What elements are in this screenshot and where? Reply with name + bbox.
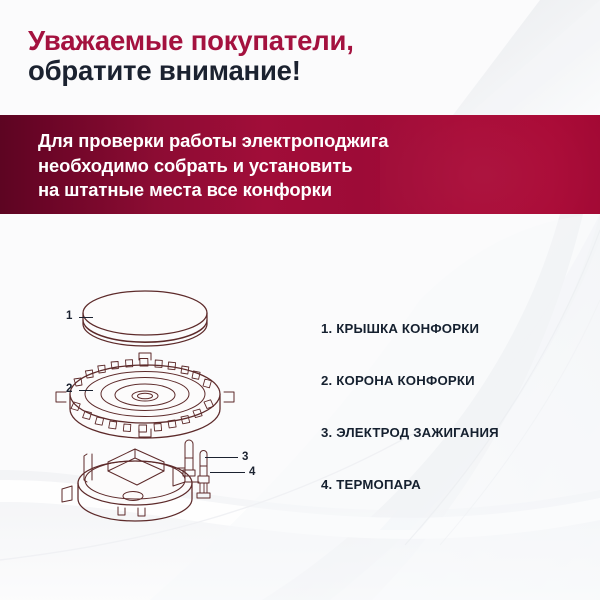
- parts-legend: 1. КРЫШКА КОНФОРКИ 2. КОРОНА КОНФОРКИ 3.…: [321, 320, 581, 528]
- callout-number-4: 4: [249, 466, 255, 478]
- legend-item-2: 2. КОРОНА КОНФОРКИ: [321, 372, 581, 424]
- callout-leader-3: [205, 457, 238, 458]
- legend-item-4: 4. ТЕРМОПАРА: [321, 476, 581, 528]
- notice-line-3: на штатные места все конфорки: [38, 178, 388, 203]
- notice-line-1: Для проверки работы электроподжига: [38, 129, 388, 154]
- callout-number-3: 3: [242, 451, 248, 463]
- header: Уважаемые покупатели, обратите внимание!: [0, 0, 600, 115]
- notice-banner-text: Для проверки работы электроподжига необх…: [38, 129, 388, 203]
- burner-exploded-diagram: [40, 268, 310, 538]
- notice-banner: Для проверки работы электроподжига необх…: [0, 115, 600, 214]
- page-title-line1: Уважаемые покупатели,: [28, 26, 354, 56]
- callout-leader-4: [210, 472, 245, 473]
- callout-number-2: 2: [66, 383, 72, 395]
- callout-number-1: 1: [66, 310, 72, 322]
- burner-cap-shape: [83, 291, 207, 346]
- notice-line-2: необходимо собрать и установить: [38, 154, 388, 179]
- burner-base-shape: [62, 440, 210, 521]
- burner-crown-shape: [56, 353, 234, 438]
- legend-item-1: 1. КРЫШКА КОНФОРКИ: [321, 320, 581, 372]
- legend-item-3: 3. ЭЛЕКТРОД ЗАЖИГАНИЯ: [321, 424, 581, 476]
- callout-leader-2: [79, 390, 93, 391]
- infographic-page: Уважаемые покупатели, обратите внимание!…: [0, 0, 600, 600]
- page-title: Уважаемые покупатели, обратите внимание!: [28, 26, 354, 85]
- callout-leader-1: [79, 317, 93, 318]
- page-title-line2: обратите внимание!: [28, 56, 354, 86]
